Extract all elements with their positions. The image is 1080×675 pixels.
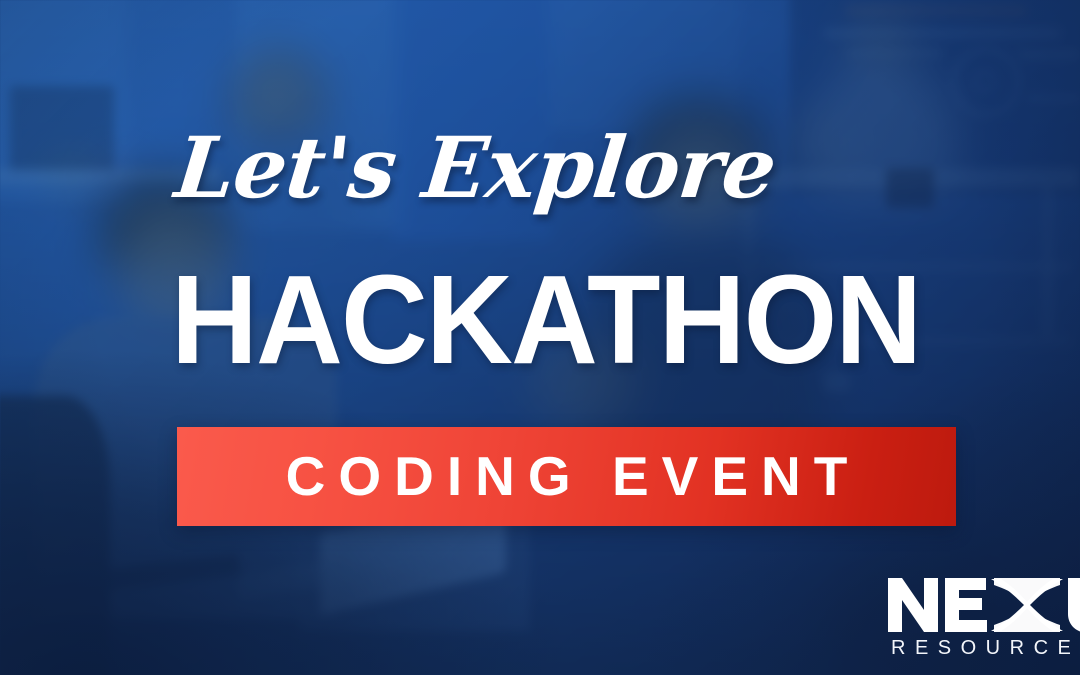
promo-poster: Let's Explore HACKATHON CODING EVENT — [0, 0, 1080, 675]
script-headline: Let's Explore — [172, 126, 780, 210]
poster-content: Let's Explore HACKATHON CODING EVENT — [0, 0, 1080, 675]
nexus-wordmark-icon — [888, 574, 1080, 636]
logo-tagline: RESOURCES — [891, 638, 1080, 658]
banner-label: CODING EVENT — [273, 449, 861, 504]
page-title: HACKATHON — [171, 257, 920, 383]
nexus-logo: RESOURCES — [888, 574, 1080, 658]
coding-event-banner: CODING EVENT — [177, 427, 956, 526]
